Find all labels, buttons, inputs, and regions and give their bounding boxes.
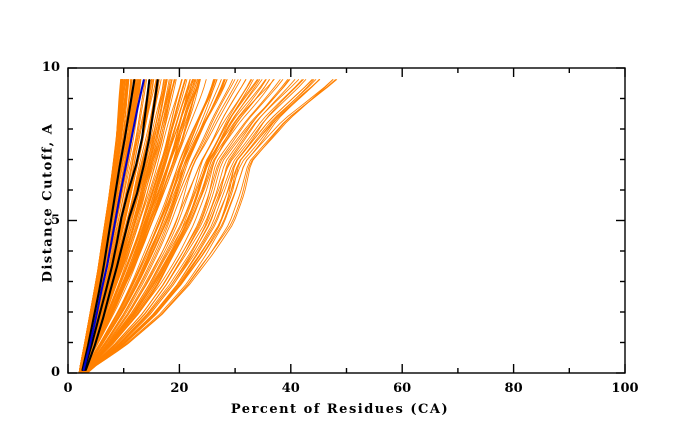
x-tick-label: 100 <box>603 381 647 396</box>
curves-layer <box>79 80 337 373</box>
y-axis-label: Distance Cutoff, A <box>41 73 56 333</box>
x-tick-label: 60 <box>380 381 424 396</box>
x-tick-label: 0 <box>46 381 90 396</box>
y-tick-label: 10 <box>20 60 60 75</box>
chart-root: T0960 Percent of Residues (CA) Distance … <box>0 0 680 440</box>
plot-clip-mask <box>626 0 680 440</box>
y-tick-label: 0 <box>20 365 60 380</box>
x-tick-label: 80 <box>492 381 536 396</box>
axis-frame-layer <box>0 0 680 440</box>
x-tick-label: 20 <box>157 381 201 396</box>
x-axis-label: Percent of Residues (CA) <box>0 402 680 417</box>
plot-clip-mask <box>0 0 680 68</box>
x-tick-label: 40 <box>269 381 313 396</box>
plot-canvas <box>0 0 680 440</box>
y-tick-label: 5 <box>20 213 60 228</box>
